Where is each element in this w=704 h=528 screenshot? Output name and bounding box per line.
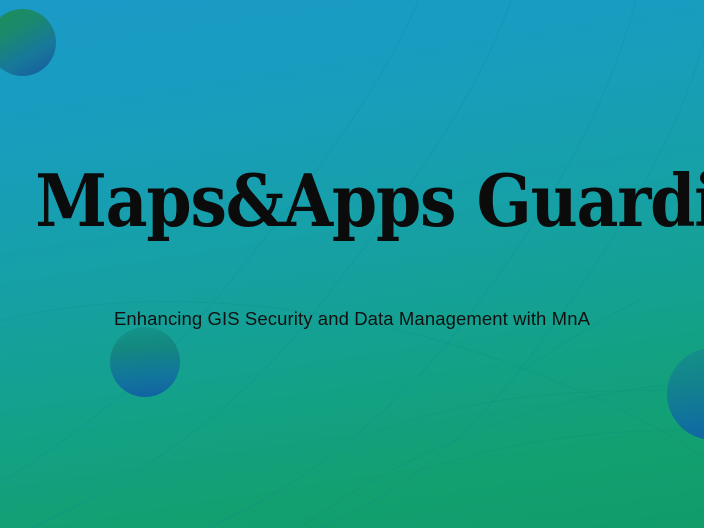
slide-title: Maps&Apps Guardian [35, 165, 669, 237]
slide-content: Maps&Apps Guardian Enhancing GIS Securit… [0, 0, 704, 528]
presentation-slide: Maps&Apps Guardian Enhancing GIS Securit… [0, 0, 704, 528]
slide-subtitle: Enhancing GIS Security and Data Manageme… [0, 308, 704, 330]
